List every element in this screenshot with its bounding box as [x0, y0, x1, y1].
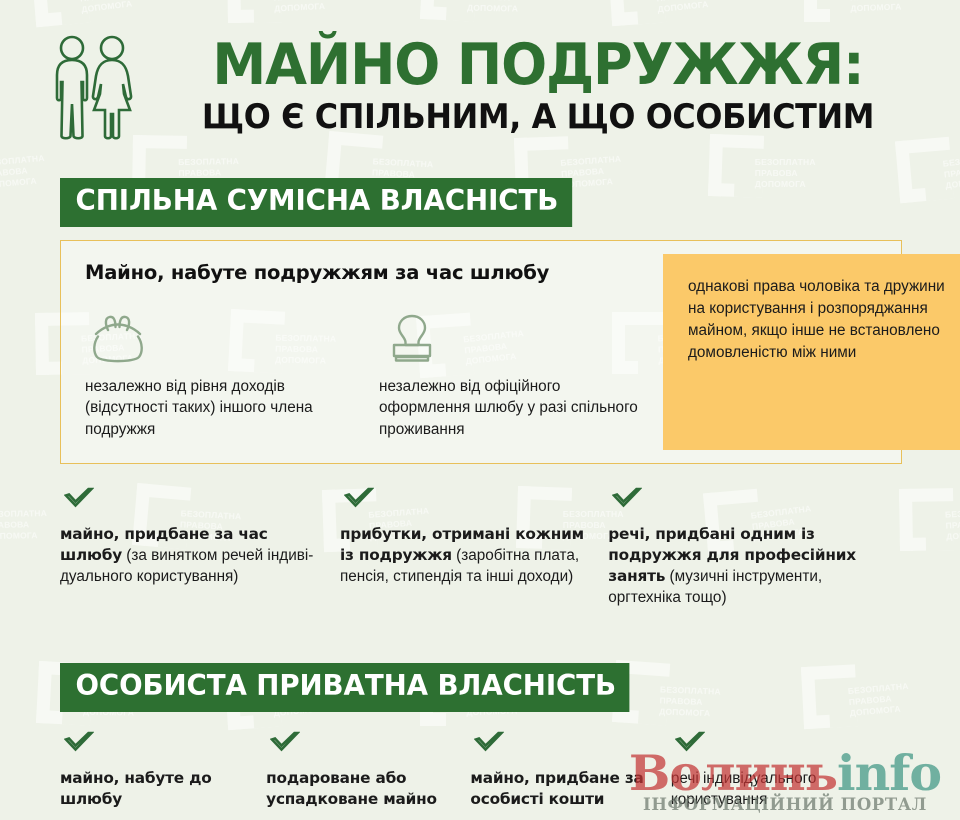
equal-rights-highlight-box: однакові права чоловіка та дружини на ко…	[663, 254, 960, 450]
list-item: майно, придбане за час шлюбу (за винятко…	[60, 486, 340, 609]
list-item-bold: майно, придбане за особисті кошти	[470, 769, 643, 808]
panel-column-marriage: незалежно від офіційного оформлення шлюб…	[379, 298, 651, 441]
check-icon	[671, 730, 886, 761]
page-subtitle: ЩО Є СПІЛЬНИМ, А ЩО ОСОБИСТИМ	[171, 99, 904, 136]
check-icon	[608, 486, 886, 517]
check-icon	[60, 486, 324, 517]
panel-columns: незалежно від рівня доходів (відсутності…	[85, 298, 651, 441]
page-title: МАЙНО ПОДРУЖЖЯ:	[171, 36, 904, 94]
panel-column-income-text: незалежно від рівня доходів (відсутності…	[85, 376, 357, 441]
list-item-text: майно, придбане за особисті кошти	[470, 768, 654, 810]
list-item-text: майно, набуте до шлюбу	[60, 768, 250, 810]
panel-title: Майно, набуте подружжям за час шлюбу	[85, 261, 651, 284]
list-item-text: прибутки, отримані кожним із подружжя (з…	[340, 524, 592, 588]
check-icon	[340, 486, 592, 517]
section-personal-header-wrap: ОСОБИСТА ПРИВАТНА ВЛАСНІСТЬ	[36, 663, 924, 712]
panel-left-content: Майно, набуте подружжям за час шлюбу нез…	[61, 241, 663, 463]
joint-property-panel: Майно, набуте подружжям за час шлюбу нез…	[60, 240, 902, 464]
infographic-page: МАЙНО ПОДРУЖЖЯ: ЩО Є СПІЛЬНИМ, А ЩО ОСОБ…	[0, 0, 960, 820]
list-item-normal: речі індивідуального користування	[671, 770, 816, 808]
list-item-bold: майно, набуте до шлюбу	[60, 769, 212, 808]
list-item-bold: подароване або успадковане майно	[266, 769, 437, 808]
list-item: майно, набуте до шлюбу	[60, 730, 266, 810]
list-item: речі індивідуального користування	[671, 730, 902, 810]
check-icon	[60, 730, 250, 761]
section-heading-joint: СПІЛЬНА СУМІСНА ВЛАСНІСТЬ	[60, 178, 572, 227]
equal-rights-text: однакові права чоловіка та дружини на ко…	[688, 276, 945, 364]
list-item: майно, придбане за особисті кошти	[470, 730, 670, 810]
list-item: речі, придбані одним із подружжя для про…	[608, 486, 902, 609]
panel-column-marriage-text: незалежно від офіційного оформлення шлюб…	[379, 376, 651, 441]
list-item-text: подароване або успадковане майно	[266, 768, 454, 810]
purse-icon	[85, 298, 357, 364]
panel-column-income: незалежно від рівня доходів (відсутності…	[85, 298, 357, 441]
check-icon	[470, 730, 654, 761]
personal-property-items: майно, набуте до шлюбу подароване або ус…	[36, 730, 924, 810]
section-heading-personal: ОСОБИСТА ПРИВАТНА ВЛАСНІСТЬ	[60, 663, 630, 712]
list-item-text: речі індивідуального користування	[671, 768, 886, 810]
list-item: подароване або успадковане майно	[266, 730, 470, 810]
list-item-text: майно, придбане за час шлюбу (за винятко…	[60, 524, 324, 588]
check-icon	[266, 730, 454, 761]
section-joint-header-wrap: СПІЛЬНА СУМІСНА ВЛАСНІСТЬ	[36, 178, 924, 227]
couple-man-woman-icon	[50, 32, 134, 149]
joint-property-items: майно, придбане за час шлюбу (за винятко…	[36, 486, 924, 609]
stamp-icon	[379, 298, 651, 364]
list-item-text: речі, придбані одним із подружжя для про…	[608, 524, 886, 609]
title-block: МАЙНО ПОДРУЖЖЯ: ЩО Є СПІЛЬНИМ, А ЩО ОСОБ…	[152, 36, 924, 142]
list-item: прибутки, отримані кожним із подружжя (з…	[340, 486, 608, 609]
page-header: МАЙНО ПОДРУЖЖЯ: ЩО Є СПІЛЬНИМ, А ЩО ОСОБ…	[36, 0, 924, 178]
